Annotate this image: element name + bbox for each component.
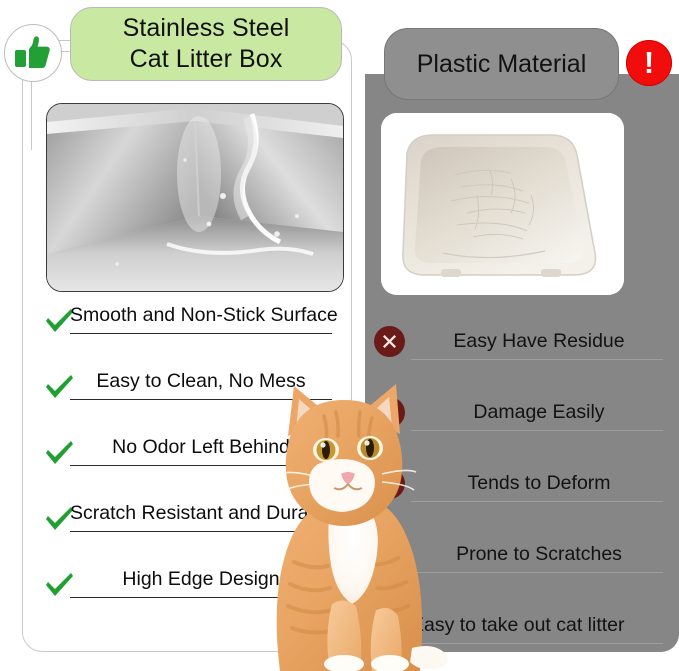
connector-line-vertical: [31, 80, 32, 150]
red-alert-icon: !: [626, 40, 672, 86]
alert-glyph: !: [644, 47, 654, 78]
drawback-label: Easy Have Residue: [411, 326, 667, 357]
benefit-label: Smooth and Non-Stick Surface: [70, 302, 332, 328]
stainless-steel-title: Stainless Steel Cat Litter Box: [123, 13, 290, 75]
title-line-2: Cat Litter Box: [123, 44, 290, 75]
comparison-infographic: ! Stainless Steel Cat Litter Box Plastic…: [0, 0, 679, 671]
benefit-row: Smooth and Non-Stick Surface: [22, 300, 352, 366]
stainless-steel-title-badge: Stainless Steel Cat Litter Box: [70, 7, 342, 81]
red-x-icon: [374, 326, 405, 357]
thumbs-up-icon: [4, 24, 62, 82]
title-line-1: Stainless Steel: [123, 13, 290, 44]
plastic-product-photo: [381, 113, 624, 295]
plastic-title-badge: Plastic Material: [384, 28, 619, 100]
orange-tabby-cat-image: [236, 372, 456, 671]
underline: [411, 359, 663, 360]
plastic-title: Plastic Material: [417, 49, 587, 79]
stainless-steel-product-photo: [46, 103, 344, 292]
underline: [70, 333, 332, 334]
